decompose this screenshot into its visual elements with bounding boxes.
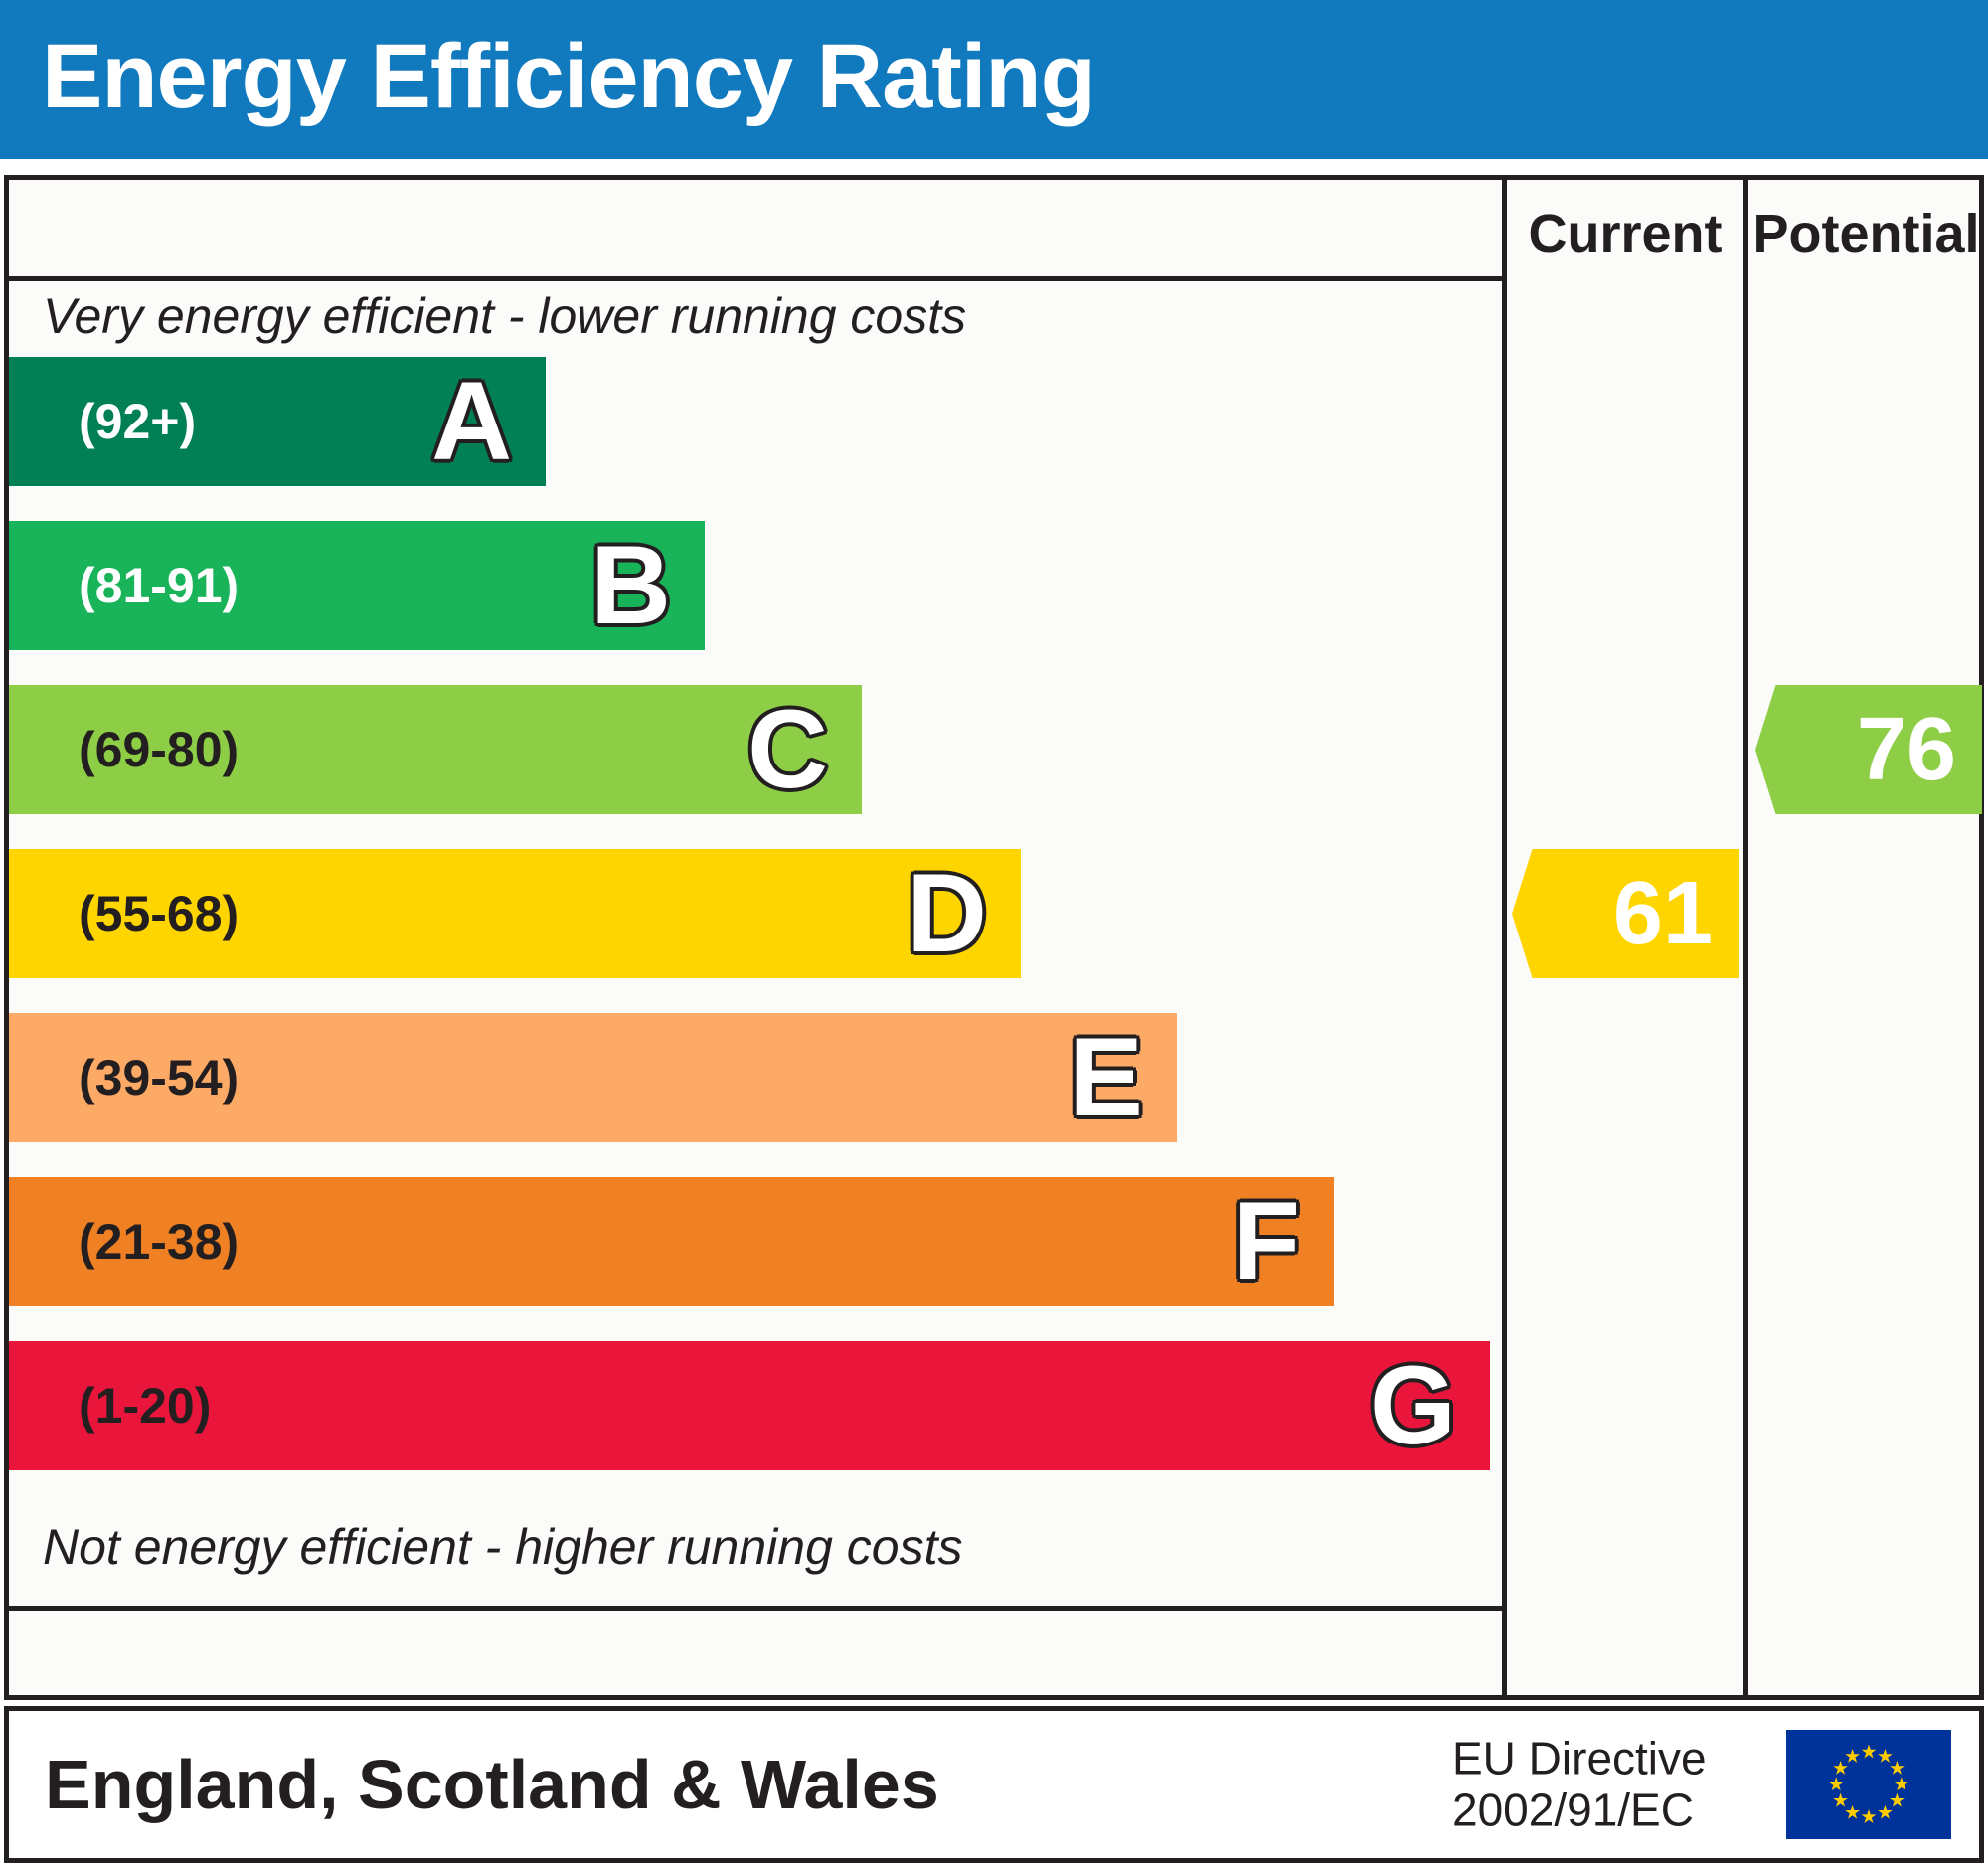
band-letter-d: D [907, 858, 987, 969]
title-bar: Energy Efficiency Rating [0, 0, 1988, 159]
caption-very-efficient: Very energy efficient - lower running co… [43, 287, 966, 345]
rating-value-current: 61 [1613, 869, 1713, 958]
potential-column-divider [1743, 180, 1748, 1695]
column-header-current: Current [1507, 198, 1743, 269]
footer-divider-rule [9, 1606, 1502, 1611]
band-bar-e: (39-54)E [9, 1013, 1177, 1142]
column-header-potential: Potential [1748, 198, 1984, 269]
band-letter-a: A [431, 366, 512, 477]
caption-not-efficient: Not energy efficient - higher running co… [43, 1518, 963, 1576]
band-letter-g: G [1370, 1350, 1456, 1461]
rating-table: Current Potential Very energy efficient … [4, 175, 1984, 1700]
band-letter-e: E [1069, 1022, 1143, 1133]
band-bar-g: (1-20)G [9, 1341, 1490, 1470]
band-bar-group: (92+)A(81-91)B(69-80)C(55-68)D(39-54)E(2… [9, 357, 1502, 1510]
eu-directive-label: EU Directive 2002/91/EC [1452, 1733, 1707, 1835]
band-letter-f: F [1233, 1186, 1300, 1297]
band-range-f: (21-38) [79, 1213, 239, 1271]
band-range-g: (1-20) [79, 1377, 211, 1435]
band-letter-c: C [747, 694, 828, 805]
band-bar-d: (55-68)D [9, 849, 1021, 978]
rating-value-potential: 76 [1857, 705, 1956, 794]
band-bar-a: (92+)A [9, 357, 546, 486]
page-title: Energy Efficiency Rating [42, 25, 1095, 129]
band-range-b: (81-91) [79, 557, 239, 614]
band-bar-f: (21-38)F [9, 1177, 1334, 1306]
energy-efficiency-certificate: Energy Efficiency Rating Current Potenti… [0, 0, 1988, 1867]
band-bar-b: (81-91)B [9, 521, 705, 650]
band-letter-b: B [590, 530, 671, 641]
header-divider-rule [9, 276, 1502, 281]
eu-directive-line-2: 2002/91/EC [1452, 1784, 1707, 1836]
band-range-d: (55-68) [79, 885, 239, 942]
eu-flag-icon [1784, 1728, 1953, 1841]
current-column-divider [1502, 180, 1507, 1695]
band-bar-c: (69-80)C [9, 685, 862, 814]
band-range-e: (39-54) [79, 1049, 239, 1106]
rating-arrow-current: 61 [1512, 849, 1739, 978]
band-range-c: (69-80) [79, 721, 239, 778]
region-label: England, Scotland & Wales [45, 1745, 939, 1824]
band-range-a: (92+) [79, 393, 196, 450]
eu-directive-line-1: EU Directive [1452, 1733, 1707, 1784]
rating-arrow-potential: 76 [1755, 685, 1982, 814]
footer-bar: England, Scotland & Wales EU Directive 2… [4, 1706, 1984, 1863]
